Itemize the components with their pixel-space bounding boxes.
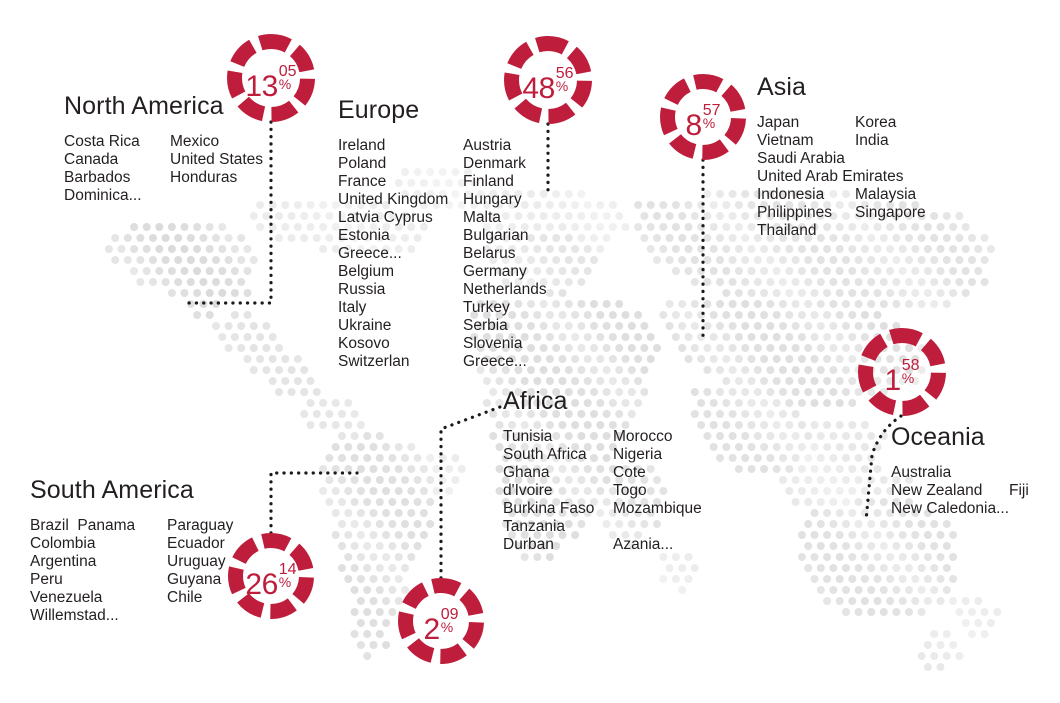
country-item — [1009, 464, 1029, 482]
country-item — [613, 518, 702, 536]
region-title: Asia — [757, 73, 926, 102]
region-title: Africa — [503, 387, 702, 416]
country-item: Vietnam — [757, 132, 855, 150]
country-item: Netherlands — [463, 281, 547, 299]
country-item: Mexico — [170, 133, 263, 151]
donut-value-oceania: 1 58 % — [856, 326, 948, 418]
country-item: Colombia — [30, 535, 167, 553]
donut-value-asia: 8 57 % — [658, 72, 748, 162]
region-africa: Africa TunisiaSouth AfricaGhanad'IvoireB… — [503, 387, 702, 554]
country-column: Fiji — [1009, 464, 1029, 518]
country-item: Kosovo — [338, 335, 463, 353]
country-item: Estonia — [338, 227, 463, 245]
value-integer: 2 — [424, 615, 440, 645]
region-title: Europe — [338, 96, 547, 125]
leader-south-america — [271, 473, 357, 533]
value-integer: 26 — [245, 570, 277, 600]
country-item: United Arab Emirates — [757, 168, 855, 186]
country-item: Guyana — [167, 571, 233, 589]
region-asia: Asia JapanVietnamSaudi ArabiaUnited Arab… — [757, 73, 926, 240]
country-item: Belarus — [463, 245, 547, 263]
country-item: Ireland — [338, 137, 463, 155]
country-item: Dominica... — [64, 187, 170, 205]
donut-value-africa: 2 09 % — [396, 576, 486, 666]
country-column: Costa RicaCanadaBarbadosDominica... — [64, 133, 170, 205]
value-unit: % — [441, 621, 453, 634]
country-item: Durban — [503, 536, 613, 554]
country-list: JapanVietnamSaudi ArabiaUnited Arab Emir… — [757, 114, 926, 240]
value-unit: % — [279, 576, 291, 589]
country-item: Ghana — [503, 464, 613, 482]
country-item: United Kingdom — [338, 191, 463, 209]
country-item: Morocco — [613, 428, 702, 446]
region-south-america: South America Brazil PanamaColombiaArgen… — [30, 476, 233, 625]
value-unit: % — [279, 78, 291, 91]
country-item — [167, 607, 233, 625]
country-item: Nigeria — [613, 446, 702, 464]
country-column: IrelandPolandFranceUnited KingdomLatvia … — [338, 137, 463, 371]
country-item: Fiji — [1009, 482, 1029, 500]
country-item: Korea — [855, 114, 926, 132]
country-item: Turkey — [463, 299, 547, 317]
value-integer: 1 — [885, 366, 901, 396]
country-column: MoroccoNigeriaCoteTogoMozambique Azania.… — [613, 428, 702, 554]
region-oceania: Oceania AustraliaNew ZealandNew Caledoni… — [891, 423, 1029, 518]
donut-africa[interactable]: 2 09 % — [396, 576, 486, 666]
country-item: Philippines — [757, 204, 855, 222]
country-item: Chile — [167, 589, 233, 607]
country-item: Saudi Arabia — [757, 150, 855, 168]
country-column: AustraliaNew ZealandNew Caledonia... — [891, 464, 1009, 518]
country-column: KoreaIndia MalaysiaSingapore — [855, 114, 926, 240]
country-item: United States — [170, 151, 263, 169]
value-unit: % — [902, 372, 914, 385]
country-item: Finland — [463, 173, 547, 191]
country-item: Japan — [757, 114, 855, 132]
country-item — [855, 222, 926, 240]
country-item: Singapore — [855, 204, 926, 222]
country-item: South Africa — [503, 446, 613, 464]
country-item: Cote — [613, 464, 702, 482]
country-item: Thailand — [757, 222, 855, 240]
country-item: Hungary — [463, 191, 547, 209]
country-item: Austria — [463, 137, 547, 155]
country-item: Serbia — [463, 317, 547, 335]
country-item: Poland — [338, 155, 463, 173]
country-item: Latvia Cyprus — [338, 209, 463, 227]
region-title: Oceania — [891, 423, 1029, 452]
country-item: Venezuela — [30, 589, 167, 607]
country-item: Togo — [613, 482, 702, 500]
country-column: JapanVietnamSaudi ArabiaUnited Arab Emir… — [757, 114, 855, 240]
country-item: Barbados — [64, 169, 170, 187]
country-item — [1009, 500, 1029, 518]
country-item — [855, 168, 926, 186]
country-list: Brazil PanamaColombiaArgentinaPeruVenezu… — [30, 517, 233, 625]
country-list: TunisiaSouth AfricaGhanad'IvoireBurkina … — [503, 428, 702, 554]
country-item: Ukraine — [338, 317, 463, 335]
country-column: ParaguayEcuadorUruguayGuyanaChile — [167, 517, 233, 625]
country-item: Switzerlan — [338, 353, 463, 371]
value-integer: 8 — [686, 111, 702, 141]
country-item: Bulgarian — [463, 227, 547, 245]
region-title: South America — [30, 476, 233, 505]
leader-africa — [441, 407, 500, 578]
country-item: New Zealand — [891, 482, 1009, 500]
country-column: MexicoUnited StatesHonduras — [170, 133, 263, 205]
country-item: Australia — [891, 464, 1009, 482]
country-column: AustriaDenmarkFinlandHungaryMaltaBulgari… — [463, 137, 547, 371]
country-column: Brazil PanamaColombiaArgentinaPeruVenezu… — [30, 517, 167, 625]
country-item: Tanzania — [503, 518, 613, 536]
country-item: Costa Rica — [64, 133, 170, 151]
country-item: France — [338, 173, 463, 191]
country-item: d'Ivoire — [503, 482, 613, 500]
country-item: Tunisia — [503, 428, 613, 446]
country-item: Malta — [463, 209, 547, 227]
country-item — [855, 150, 926, 168]
infographic-canvas: 13 05 % 48 56 % — [0, 0, 1060, 703]
country-item: Brazil Panama — [30, 517, 167, 535]
country-item: Canada — [64, 151, 170, 169]
country-item: Willemstad... — [30, 607, 167, 625]
country-item: Russia — [338, 281, 463, 299]
country-item: Malaysia — [855, 186, 926, 204]
donut-value-south-america: 26 14 % — [226, 531, 316, 621]
country-item: Uruguay — [167, 553, 233, 571]
donut-asia[interactable]: 8 57 % — [658, 72, 748, 162]
country-item: Mozambique — [613, 500, 702, 518]
country-item: Germany — [463, 263, 547, 281]
country-list: IrelandPolandFranceUnited KingdomLatvia … — [338, 137, 547, 371]
donut-oceania[interactable]: 1 58 % — [856, 326, 948, 418]
country-item: Denmark — [463, 155, 547, 173]
country-item: New Caledonia... — [891, 500, 1009, 518]
value-unit: % — [703, 117, 715, 130]
country-item: Azania... — [613, 536, 702, 554]
country-item: Paraguay — [167, 517, 233, 535]
country-item: Slovenia — [463, 335, 547, 353]
country-list: Costa RicaCanadaBarbadosDominica... Mexi… — [64, 133, 263, 205]
country-item: Indonesia — [757, 186, 855, 204]
country-item: Ecuador — [167, 535, 233, 553]
country-item: India — [855, 132, 926, 150]
region-europe: Europe IrelandPolandFranceUnited Kingdom… — [338, 96, 547, 371]
country-item: Belgium — [338, 263, 463, 281]
country-list: AustraliaNew ZealandNew Caledonia... Fij… — [891, 464, 1029, 518]
donut-south-america[interactable]: 26 14 % — [226, 531, 316, 621]
country-item: Argentina — [30, 553, 167, 571]
country-item: Greece... — [463, 353, 547, 371]
value-unit: % — [556, 80, 568, 93]
country-item: Italy — [338, 299, 463, 317]
region-title: North America — [64, 92, 263, 121]
country-item: Peru — [30, 571, 167, 589]
country-item: Honduras — [170, 169, 263, 187]
country-column: TunisiaSouth AfricaGhanad'IvoireBurkina … — [503, 428, 613, 554]
country-item: Burkina Faso — [503, 500, 613, 518]
region-north-america: North America Costa RicaCanadaBarbadosDo… — [64, 92, 263, 205]
country-item: Greece... — [338, 245, 463, 263]
